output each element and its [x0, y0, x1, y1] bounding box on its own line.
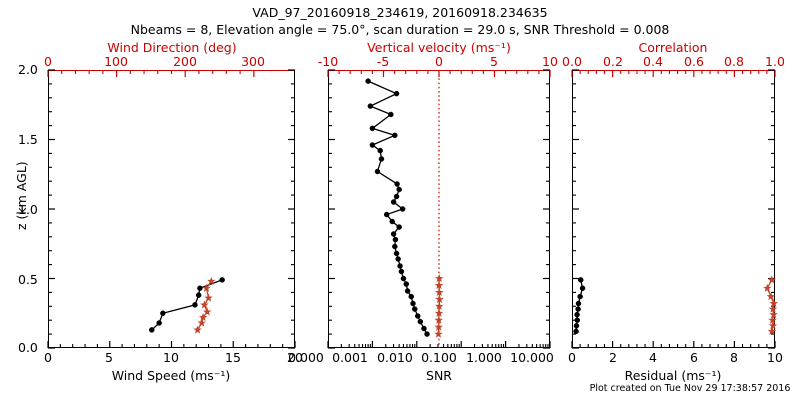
panel-wind-bottom-tick-0: 0	[44, 352, 52, 365]
y-tick-label-2.0: 2.0	[18, 64, 38, 77]
panel-residual-top-tick-0.2: 0.2	[603, 56, 623, 69]
panel-snr-top-tick-10: 10	[542, 56, 558, 69]
panel-wind-top-axis-label: Wind Direction (deg)	[107, 42, 236, 55]
panel-residual-top-tick-0.8: 0.8	[724, 56, 744, 69]
series-snr	[366, 79, 430, 337]
panel-residual-bottom-axis-label: Residual (ms⁻¹)	[625, 370, 722, 383]
y-axis-label: z (km AGL)	[14, 161, 29, 230]
panel-residual-top-tick-0.0: 0.0	[562, 56, 582, 69]
panel-residual	[572, 70, 775, 348]
panel-wind-bottom-axis-label: Wind Speed (ms⁻¹)	[112, 370, 231, 383]
panel-snr-bottom-tick-1.000: 1.000	[466, 352, 502, 365]
figure-subtitle: Nbeams = 8, Elevation angle = 75.0°, sca…	[131, 24, 670, 37]
panel-wind-plot-area	[48, 70, 295, 348]
y-tick-label-0.5: 0.5	[18, 274, 38, 287]
panel-snr	[328, 70, 550, 348]
figure-canvas: VAD_97_20160918_234619, 20160918.234635 …	[0, 0, 800, 400]
y-tick-label-1.5: 1.5	[18, 134, 38, 147]
figure-title: VAD_97_20160918_234619, 20160918.234635	[252, 7, 547, 20]
panel-residual-bottom-tick-2: 2	[609, 352, 617, 365]
panel-residual-top-tick-0.4: 0.4	[643, 56, 663, 69]
series-residual	[574, 277, 585, 333]
panel-wind	[48, 70, 295, 348]
series-wind-speed	[149, 277, 224, 332]
panel-snr-top-tick-0: 0	[435, 56, 443, 69]
panel-residual-bottom-tick-4: 4	[649, 352, 657, 365]
panel-snr-bottom-tick-0: 0.000	[288, 352, 324, 365]
plot-created-footer: Plot created on Tue Nov 29 17:38:57 2016	[590, 384, 791, 394]
panel-residual-top-tick-0.6: 0.6	[684, 56, 704, 69]
panel-residual-plot-area	[572, 70, 775, 348]
panel-residual-bottom-tick-0: 0	[568, 352, 576, 365]
panel-snr-top-tick-m5: -5	[377, 56, 389, 69]
panel-snr-top-axis-label: Vertical velocity (ms⁻¹)	[367, 42, 511, 55]
panel-residual-top-tick-1.0: 1.0	[765, 56, 785, 69]
panel-wind-bottom-tick-15: 15	[225, 352, 241, 365]
panel-residual-bottom-tick-8: 8	[730, 352, 738, 365]
panel-snr-bottom-tick-0.001: 0.001	[332, 352, 368, 365]
panel-residual-bottom-tick-6: 6	[690, 352, 698, 365]
panel-wind-bottom-tick-5: 5	[105, 352, 113, 365]
panel-residual-top-axis-label: Correlation	[639, 42, 708, 55]
panel-residual-bottom-tick-10: 10	[767, 352, 783, 365]
panel-wind-bottom-tick-10: 10	[163, 352, 179, 365]
panel-snr-top-tick-5: 5	[490, 56, 498, 69]
y-tick-label-0.0: 0.0	[18, 342, 38, 355]
panel-wind-top-tick-0: 0	[44, 56, 52, 69]
series-vertical-velocity	[435, 275, 443, 337]
panel-snr-top-tick-m10: -10	[318, 56, 338, 69]
panel-wind-top-tick-100: 100	[104, 56, 128, 69]
panel-wind-top-tick-200: 200	[173, 56, 197, 69]
y-tick-label-1.0: 1.0	[18, 204, 38, 217]
series-correlation	[764, 276, 777, 334]
panel-wind-top-tick-300: 300	[241, 56, 265, 69]
panel-snr-bottom-tick-0.010: 0.010	[377, 352, 413, 365]
panel-snr-bottom-tick-0.100: 0.100	[421, 352, 457, 365]
panel-snr-bottom-tick-10.000: 10.000	[510, 352, 554, 365]
panel-snr-bottom-axis-label: SNR	[426, 370, 452, 383]
panel-snr-plot-area	[328, 70, 550, 348]
